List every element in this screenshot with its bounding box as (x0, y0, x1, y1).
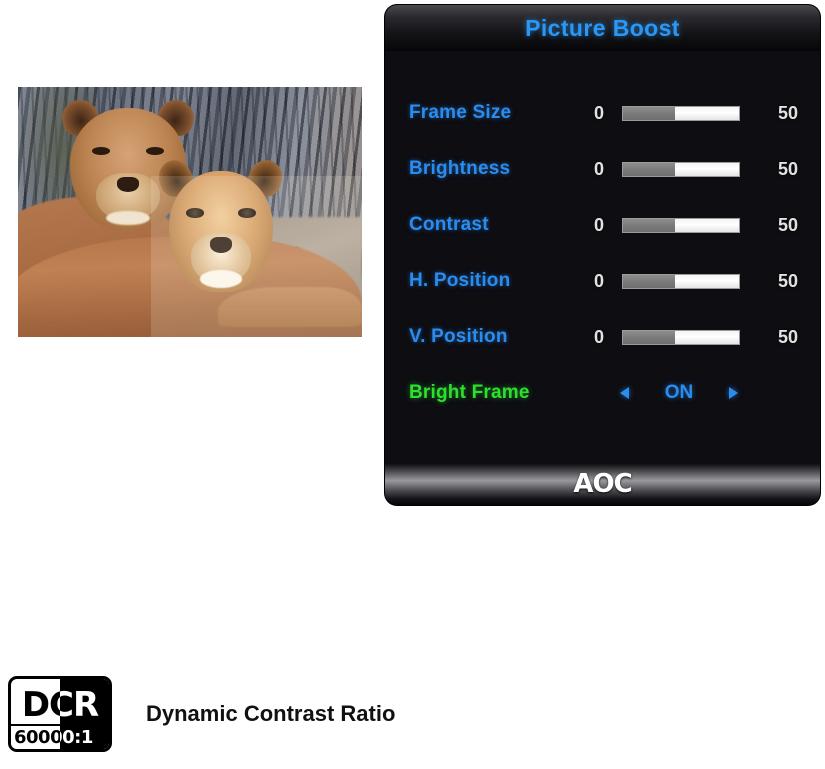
osd-title-bar: Picture Boost (385, 5, 820, 51)
slider-fill (623, 331, 675, 344)
osd-menu-list: Frame Size 0 50 Brightness 0 50 Contrast… (385, 51, 820, 463)
lion-paws (218, 287, 362, 327)
triangle-left-icon[interactable] (620, 387, 629, 399)
menu-row-contrast[interactable]: Contrast 0 50 (409, 197, 798, 253)
dcr-letters-text: DCR (11, 680, 60, 730)
dcr-badge-icon: DCR DCR 60000:1 60000:1 (8, 676, 112, 752)
dcr-ratio-text: 60000:1 (11, 726, 60, 749)
dcr-caption: Dynamic Contrast Ratio (146, 701, 395, 727)
dcr-ratio-bar: 60000:1 60000:1 (11, 724, 109, 749)
slider-h-position[interactable] (622, 274, 740, 289)
menu-label-frame-size: Frame Size (409, 102, 594, 124)
slider-max-frame-size: 50 (756, 103, 798, 124)
slider-fill (623, 219, 675, 232)
slider-min-v-position: 0 (594, 327, 614, 348)
slider-min-h-position: 0 (594, 271, 614, 292)
menu-label-h-position: H. Position (409, 270, 594, 292)
menu-row-v-position[interactable]: V. Position 0 50 (409, 309, 798, 365)
dcr-letters-light-clip: DCR (60, 680, 109, 730)
preview-image (18, 87, 362, 337)
dcr-letters-text: DCR (60, 680, 109, 730)
osd-footer-bar: AOC (385, 463, 820, 505)
slider-max-contrast: 50 (756, 215, 798, 236)
slider-max-h-position: 50 (756, 271, 798, 292)
slider-min-contrast: 0 (594, 215, 614, 236)
slider-max-brightness: 50 (756, 159, 798, 180)
slider-fill (623, 107, 675, 120)
dcr-letters-dark-clip: DCR (11, 680, 60, 730)
menu-label-contrast: Contrast (409, 214, 594, 236)
toggle-value-bright-frame: ON (657, 382, 701, 404)
chin (200, 270, 242, 288)
slider-v-position[interactable] (622, 330, 740, 345)
menu-row-bright-frame[interactable]: Bright Frame ON (409, 365, 798, 421)
slider-min-brightness: 0 (594, 159, 614, 180)
ratio-light-clip: 60000:1 (60, 726, 109, 749)
slider-max-v-position: 50 (756, 327, 798, 348)
nose (117, 177, 139, 192)
menu-label-v-position: V. Position (409, 326, 594, 348)
toggle-bright-frame[interactable]: ON (602, 382, 798, 404)
nose (210, 237, 232, 253)
ratio-dark-clip: 60000:1 (11, 726, 60, 749)
aoc-brand-logo: AOC (573, 469, 631, 499)
slider-fill (623, 275, 675, 288)
slider-contrast[interactable] (622, 218, 740, 233)
menu-row-brightness[interactable]: Brightness 0 50 (409, 141, 798, 197)
osd-picture-boost-panel: Picture Boost Frame Size 0 50 Brightness… (385, 5, 820, 505)
slider-min-frame-size: 0 (594, 103, 614, 124)
dcr-legend: DCR DCR 60000:1 60000:1 Dynamic Contrast… (8, 676, 395, 752)
eye-right (238, 208, 255, 217)
lioness-front-head (159, 157, 283, 292)
dcr-letters: DCR DCR (11, 680, 109, 730)
menu-row-h-position[interactable]: H. Position 0 50 (409, 253, 798, 309)
slider-frame-size[interactable] (622, 106, 740, 121)
slider-brightness[interactable] (622, 162, 740, 177)
menu-row-frame-size[interactable]: Frame Size 0 50 (409, 85, 798, 141)
slider-fill (623, 163, 675, 176)
triangle-right-icon[interactable] (729, 387, 738, 399)
eye-left (186, 208, 203, 217)
menu-label-bright-frame: Bright Frame (409, 382, 594, 404)
menu-label-brightness: Brightness (409, 158, 594, 180)
dcr-ratio-text: 60000:1 (60, 726, 109, 749)
page-title: Picture Boost (525, 15, 680, 42)
